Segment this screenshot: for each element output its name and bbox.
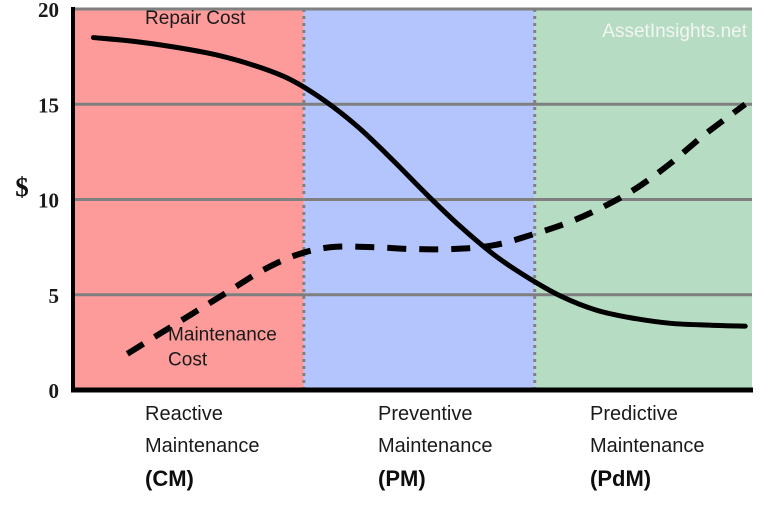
y-tick-label-15: 15 xyxy=(38,93,59,117)
category-1-line2: Maintenance xyxy=(378,435,493,457)
y-tick-label-0: 0 xyxy=(49,379,60,403)
chart-canvas: AssetInsights.net Repair Cost Maintenanc… xyxy=(0,0,768,506)
watermark-label: AssetInsights.net xyxy=(602,21,747,42)
category-2-abbr: (PdM) xyxy=(590,466,651,491)
category-1-line1: Preventive xyxy=(378,403,473,425)
y-tick-label-10: 10 xyxy=(38,189,59,213)
repair-cost-label: Repair Cost xyxy=(145,8,246,29)
category-0-abbr: (CM) xyxy=(145,466,194,491)
cost-comparison-chart: AssetInsights.net Repair Cost Maintenanc… xyxy=(0,0,768,506)
category-2-line1: Predictive xyxy=(590,403,678,425)
category-0-line1: Reactive xyxy=(145,403,223,425)
y-axis-tick-labels: 05101520 xyxy=(38,0,59,403)
x-axis-category-labels: ReactiveMaintenance(CM)PreventiveMainten… xyxy=(145,403,705,491)
category-0-line2: Maintenance xyxy=(145,435,260,457)
y-axis-title: $ xyxy=(15,172,29,202)
y-tick-label-20: 20 xyxy=(38,0,59,22)
category-2-line2: Maintenance xyxy=(590,435,705,457)
maintenance-cost-label-line1: Maintenance xyxy=(168,324,277,345)
y-tick-label-5: 5 xyxy=(49,284,60,308)
maintenance-cost-label-line2: Cost xyxy=(168,349,208,370)
category-1-abbr: (PM) xyxy=(378,466,426,491)
